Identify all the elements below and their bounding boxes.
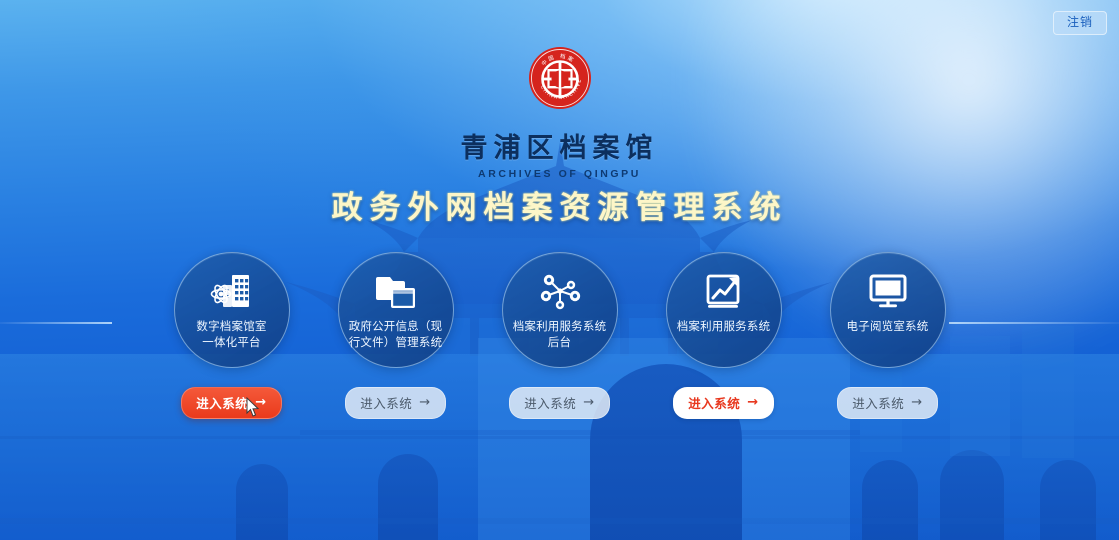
monitor-icon (866, 271, 910, 311)
enter-button-label: 进入系统 (196, 393, 248, 412)
card-circle-e-reading-room-system[interactable]: 电子阅览室系统 (830, 252, 946, 368)
card-label: 数字档案馆室 一体化平台 (180, 318, 284, 350)
arrow-right-icon: → (911, 396, 922, 409)
enter-button-label: 进入系统 (524, 393, 576, 412)
system-cards-row: 数字档案馆室 一体化平台 进入系统 → (0, 252, 1119, 419)
card-label-line1: 档案利用服务系统 (677, 319, 771, 333)
enter-system-button-e-reading-room-system[interactable]: 进入系统 → (837, 387, 937, 419)
card-label-line1: 政府公开信息（现 (349, 319, 443, 333)
china-archives-emblem-icon: 中国 档案 CHINA ARCHIVES (528, 46, 592, 110)
arrow-right-icon: → (583, 396, 594, 409)
enter-button-label: 进入系统 (360, 393, 412, 412)
card-archive-service-system: 档案利用服务系统 进入系统 → (663, 252, 785, 419)
card-label-line2: 后台 (548, 335, 571, 349)
card-e-reading-room-system: 电子阅览室系统 进入系统 → (827, 252, 949, 419)
login-portal-page: 注销 中国 档案 (0, 0, 1119, 540)
arrow-right-icon: → (747, 396, 758, 409)
building-atom-icon (210, 271, 254, 311)
archive-name-en: ARCHIVES OF QINGPU (0, 168, 1119, 180)
chart-trend-icon (702, 271, 746, 311)
archive-name-cn: 青浦区档案馆 (0, 126, 1119, 165)
page-title: 政务外网档案资源管理系统 (0, 182, 1119, 227)
card-circle-archive-service-system[interactable]: 档案利用服务系统 (666, 252, 782, 368)
arrow-right-icon: → (255, 396, 266, 409)
folder-window-icon (375, 271, 417, 311)
arrow-right-icon: → (419, 396, 430, 409)
card-label-line1: 电子阅览室系统 (847, 319, 929, 333)
enter-system-button-archive-service-system[interactable]: 进入系统 → (673, 387, 773, 419)
card-circle-gov-open-info-system[interactable]: 政府公开信息（现 行文件）管理系统 (338, 252, 454, 368)
enter-button-label: 进入系统 (688, 393, 740, 412)
card-label: 档案利用服务系统 (672, 318, 776, 334)
card-label-line1: 数字档案馆室 (196, 319, 266, 333)
brand-block: 中国 档案 CHINA ARCHIVES 青浦区档案馆 ARCHIVES OF … (0, 46, 1119, 180)
card-label-line2: 行文件）管理系统 (349, 335, 443, 349)
logout-button[interactable]: 注销 (1053, 11, 1107, 35)
card-archive-service-backend: 档案利用服务系统 后台 进入系统 → (499, 252, 621, 419)
card-label: 电子阅览室系统 (836, 318, 940, 334)
network-hub-icon (538, 271, 582, 311)
card-digital-archive-platform: 数字档案馆室 一体化平台 进入系统 → (171, 252, 293, 419)
card-label: 政府公开信息（现 行文件）管理系统 (344, 318, 448, 350)
enter-system-button-digital-archive-platform[interactable]: 进入系统 → (181, 387, 281, 419)
enter-system-button-gov-open-info-system[interactable]: 进入系统 → (345, 387, 445, 419)
card-label-line1: 档案利用服务系统 (513, 319, 607, 333)
card-label: 档案利用服务系统 后台 (508, 318, 612, 350)
card-circle-archive-service-backend[interactable]: 档案利用服务系统 后台 (502, 252, 618, 368)
enter-button-label: 进入系统 (852, 393, 904, 412)
card-circle-digital-archive-platform[interactable]: 数字档案馆室 一体化平台 (174, 252, 290, 368)
card-gov-open-info-system: 政府公开信息（现 行文件）管理系统 进入系统 → (335, 252, 457, 419)
enter-system-button-archive-service-backend[interactable]: 进入系统 → (509, 387, 609, 419)
card-label-line2: 一体化平台 (202, 335, 261, 349)
